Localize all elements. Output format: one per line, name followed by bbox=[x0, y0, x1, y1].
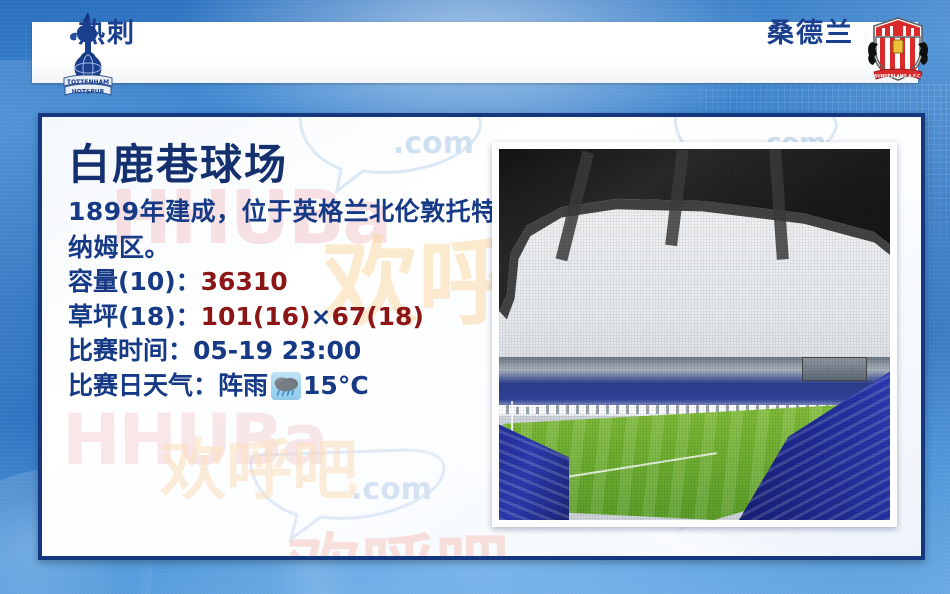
kickoff-value: 05-19 23:00 bbox=[193, 336, 361, 365]
temperature-value: 15°C bbox=[303, 369, 369, 404]
stadium-capacity-row: 容量(10)：36310 bbox=[68, 265, 498, 300]
stadium-info-block: 白鹿巷球场 1899年建成，位于英格兰北伦敦托特纳姆区。 容量(10)：3631… bbox=[68, 141, 498, 403]
pitch-width-value: 67(18) bbox=[331, 302, 423, 331]
pitch-separator: × bbox=[310, 302, 331, 331]
stadium-photo-frame bbox=[492, 142, 897, 527]
stadium-description: 1899年建成，位于英格兰北伦敦托特纳姆区。 bbox=[68, 194, 498, 265]
kickoff-label: 比赛时间： bbox=[68, 336, 193, 365]
stadium-info-card: .com .com .com .com HHUBa HHUBa 欢呼网 欢呼吧 … bbox=[38, 113, 925, 560]
home-team: 热刺 bbox=[78, 0, 136, 61]
match-info-screen: TOTTENHAM HOTSPUR 热刺 桑德兰 bbox=[0, 0, 950, 594]
home-crest-scroll-bottom: HOTSPUR bbox=[72, 89, 105, 96]
away-crest-scroll: SUNDERLAND A.F.C. bbox=[874, 74, 922, 79]
match-weather-row: 比赛日天气：阵雨 15°C bbox=[68, 369, 498, 404]
capacity-label: 容量(10)： bbox=[68, 267, 201, 296]
home-crest-scroll-top: TOTTENHAM bbox=[67, 79, 109, 86]
stadium-pitch-row: 草坪(18)：101(16)×67(18) bbox=[68, 300, 498, 335]
weather-label: 比赛日天气： bbox=[68, 369, 218, 404]
away-team: 桑德兰 bbox=[767, 0, 854, 61]
shower-rain-icon bbox=[271, 372, 301, 400]
photo-pixel-texture bbox=[499, 149, 890, 520]
capacity-value: 36310 bbox=[201, 267, 288, 296]
away-team-name: 桑德兰 bbox=[767, 11, 854, 50]
stadium-title: 白鹿巷球场 bbox=[68, 141, 498, 188]
stadium-photo bbox=[499, 149, 890, 520]
pitch-label: 草坪(18)： bbox=[68, 302, 201, 331]
weather-condition: 阵雨 bbox=[218, 369, 268, 404]
sunderland-afc-crest: SUNDERLAND A.F.C. bbox=[866, 16, 930, 82]
match-kickoff-row: 比赛时间：05-19 23:00 bbox=[68, 334, 498, 369]
pitch-length-value: 101(16) bbox=[201, 302, 311, 331]
home-team-name: 热刺 bbox=[78, 11, 136, 50]
